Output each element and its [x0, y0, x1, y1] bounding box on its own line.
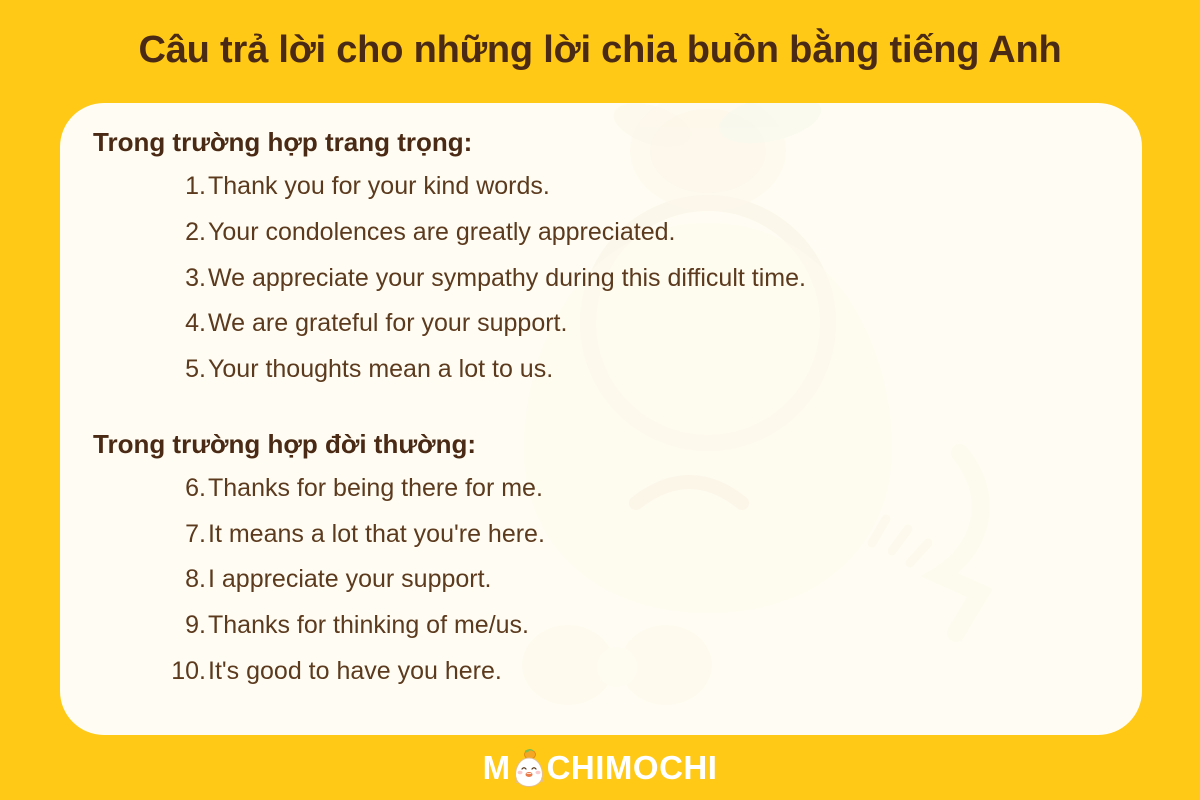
brand-logo-prefix: M [483, 751, 511, 784]
list-item-text: I appreciate your support. [208, 557, 492, 603]
brand-logo-suffix: CHIMOCHI [547, 751, 718, 784]
list-item-number: 8. [93, 557, 208, 603]
content-card: Trong trường hợp trang trọng: 1. Thank y… [60, 103, 1142, 735]
list-item: 1. Thank you for your kind words. [93, 164, 1102, 210]
list-item-text: Your thoughts mean a lot to us. [208, 347, 553, 393]
list-item: 9. Thanks for thinking of me/us. [93, 603, 1102, 649]
footer: M CHIMOCHI [0, 735, 1200, 800]
list-formal: 1. Thank you for your kind words. 2. You… [93, 164, 1102, 393]
list-item-number: 6. [93, 466, 208, 512]
list-item-text: We appreciate your sympathy during this … [208, 256, 806, 302]
list-item-number: 7. [93, 512, 208, 558]
list-item-number: 5. [93, 347, 208, 393]
list-item: 7. It means a lot that you're here. [93, 512, 1102, 558]
section-heading-casual: Trong trường hợp đời thường: [93, 427, 1102, 462]
list-casual: 6. Thanks for being there for me. 7. It … [93, 466, 1102, 695]
list-item: 4. We are grateful for your support. [93, 301, 1102, 347]
card-content: Trong trường hợp trang trọng: 1. Thank y… [60, 103, 1142, 695]
list-item: 2. Your condolences are greatly apprecia… [93, 210, 1102, 256]
list-item: 5. Your thoughts mean a lot to us. [93, 347, 1102, 393]
list-item-text: We are grateful for your support. [208, 301, 567, 347]
list-item-number: 2. [93, 210, 208, 256]
list-item-number: 10. [93, 649, 208, 695]
brand-logo: M CHIMOCHI [483, 748, 718, 788]
mochi-mascot-icon [512, 749, 546, 789]
page-title: Câu trả lời cho những lời chia buồn bằng… [0, 0, 1200, 100]
list-item-text: Your condolences are greatly appreciated… [208, 210, 675, 256]
list-item-text: Thanks for being there for me. [208, 466, 543, 512]
section-formal: Trong trường hợp trang trọng: 1. Thank y… [93, 125, 1102, 393]
section-casual: Trong trường hợp đời thường: 6. Thanks f… [93, 427, 1102, 695]
list-item-text: Thanks for thinking of me/us. [208, 603, 529, 649]
list-item: 10. It's good to have you here. [93, 649, 1102, 695]
list-item: 6. Thanks for being there for me. [93, 466, 1102, 512]
list-item: 8. I appreciate your support. [93, 557, 1102, 603]
list-item-number: 3. [93, 256, 208, 302]
section-heading-formal: Trong trường hợp trang trọng: [93, 125, 1102, 160]
list-item-number: 9. [93, 603, 208, 649]
list-item-number: 4. [93, 301, 208, 347]
list-item-number: 1. [93, 164, 208, 210]
list-item: 3. We appreciate your sympathy during th… [93, 256, 1102, 302]
list-item-text: Thank you for your kind words. [208, 164, 550, 210]
list-item-text: It means a lot that you're here. [208, 512, 545, 558]
list-item-text: It's good to have you here. [208, 649, 502, 695]
